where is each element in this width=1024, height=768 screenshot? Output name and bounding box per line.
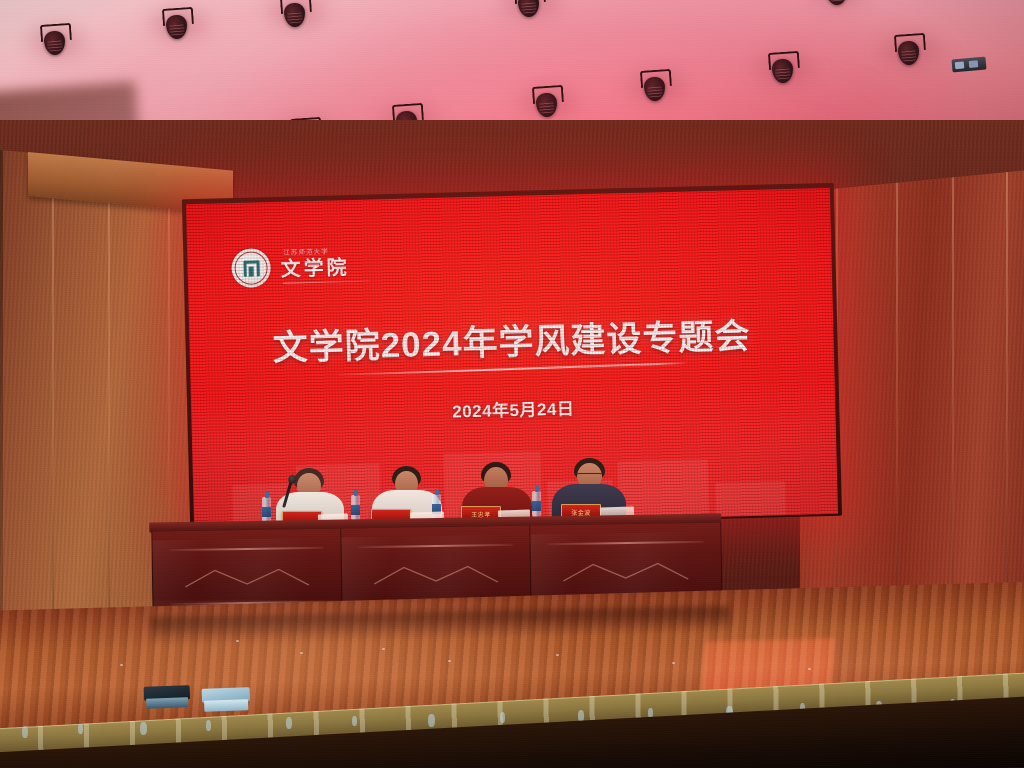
par-can-light xyxy=(767,51,799,87)
water-bottle xyxy=(532,491,541,517)
water-bottle xyxy=(351,495,360,521)
auditorium-photo: 江苏师范大学 文学院 文学院2024年学风建设专题会 2024年5月24日 xyxy=(0,0,1024,768)
par-can-light xyxy=(279,0,311,31)
logo-underline xyxy=(283,280,369,283)
water-bottle xyxy=(262,497,271,523)
eyeglasses xyxy=(577,473,602,478)
floor-monitor-dark xyxy=(144,685,191,709)
par-can-light xyxy=(513,0,545,21)
screen-date: 2024年5月24日 xyxy=(191,388,835,429)
college-logo: 江苏师范大学 文学院 xyxy=(231,246,369,288)
par-can-light xyxy=(639,69,671,105)
college-name: 文学院 xyxy=(280,257,368,279)
par-can-light xyxy=(893,33,925,69)
screen-title: 文学院2024年学风建设专题会 xyxy=(189,306,834,373)
university-name: 江苏师范大学 xyxy=(283,249,368,258)
par-can-light xyxy=(161,7,193,43)
floor-monitor-light xyxy=(202,687,251,712)
university-seal-icon xyxy=(231,248,271,288)
par-can-light xyxy=(39,23,71,59)
par-can-light xyxy=(531,85,563,121)
